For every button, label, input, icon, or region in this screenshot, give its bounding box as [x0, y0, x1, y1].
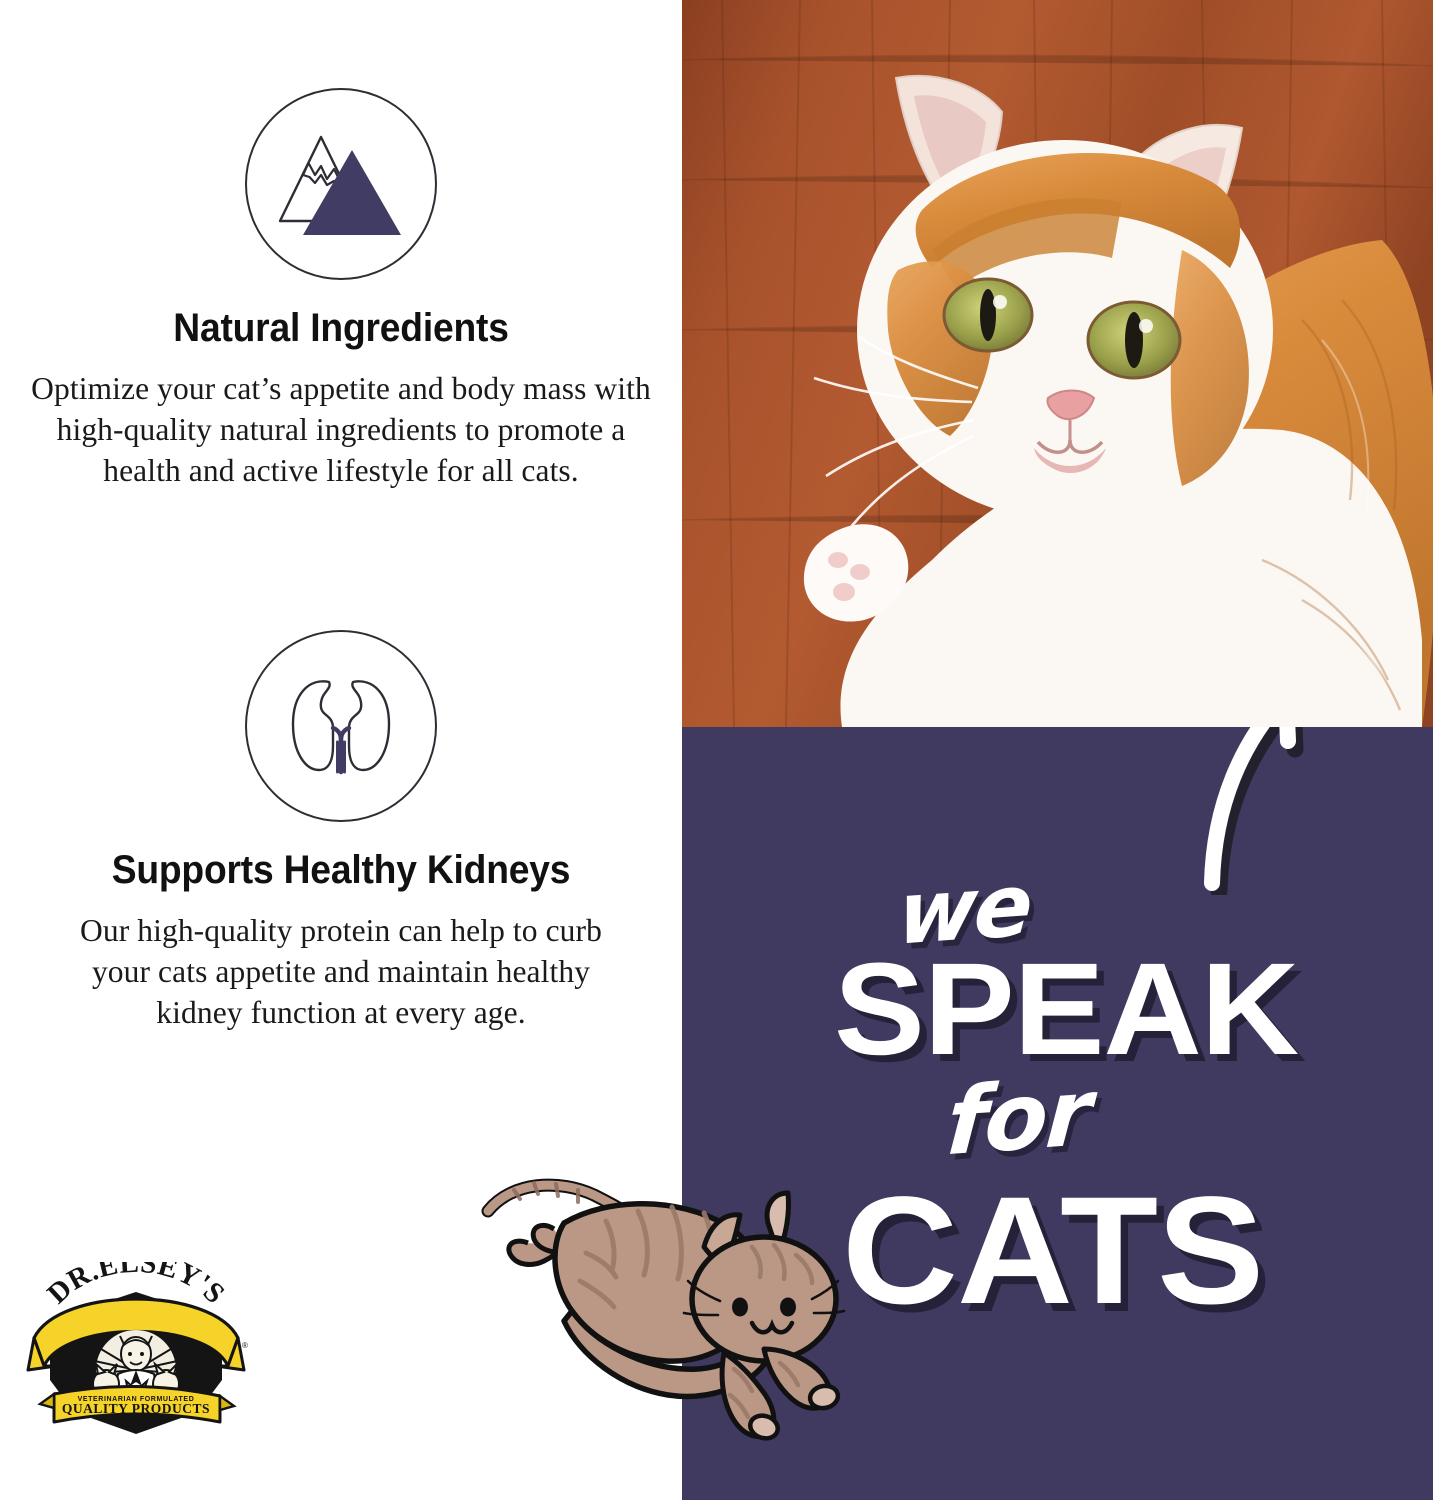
product-feature-infographic: Natural Ingredients Optimize your cat’s … — [0, 0, 1433, 1500]
registered-mark: ® — [242, 1341, 248, 1350]
headline-speak: SPEAK — [834, 943, 1298, 1074]
feature-body: Our high-quality protein can help to cur… — [51, 911, 631, 1034]
logo-tagline-sub: FOR CATS™ — [110, 1415, 162, 1424]
mountains-icon — [245, 88, 437, 280]
feature-body: Optimize your cat’s appetite and body ma… — [21, 369, 661, 492]
headline-cats: CATS — [842, 1174, 1263, 1327]
brand-logo: DR.ELSEY'S ® — [20, 1262, 252, 1442]
leaping-tabby-cat-illustration — [468, 1163, 888, 1463]
feature-title: Natural Ingredients — [24, 306, 658, 351]
kidneys-icon — [245, 630, 437, 822]
feature-title: Supports Healthy Kidneys — [24, 848, 658, 893]
cat-photo — [682, 0, 1433, 727]
headline-script-for: for — [944, 1067, 1093, 1170]
feature-supports-healthy-kidneys: Supports Healthy Kidneys Our high-qualit… — [0, 630, 682, 1034]
feature-natural-ingredients: Natural Ingredients Optimize your cat’s … — [0, 88, 682, 492]
logo-tagline-main: QUALITY PRODUCTS — [62, 1401, 210, 1416]
